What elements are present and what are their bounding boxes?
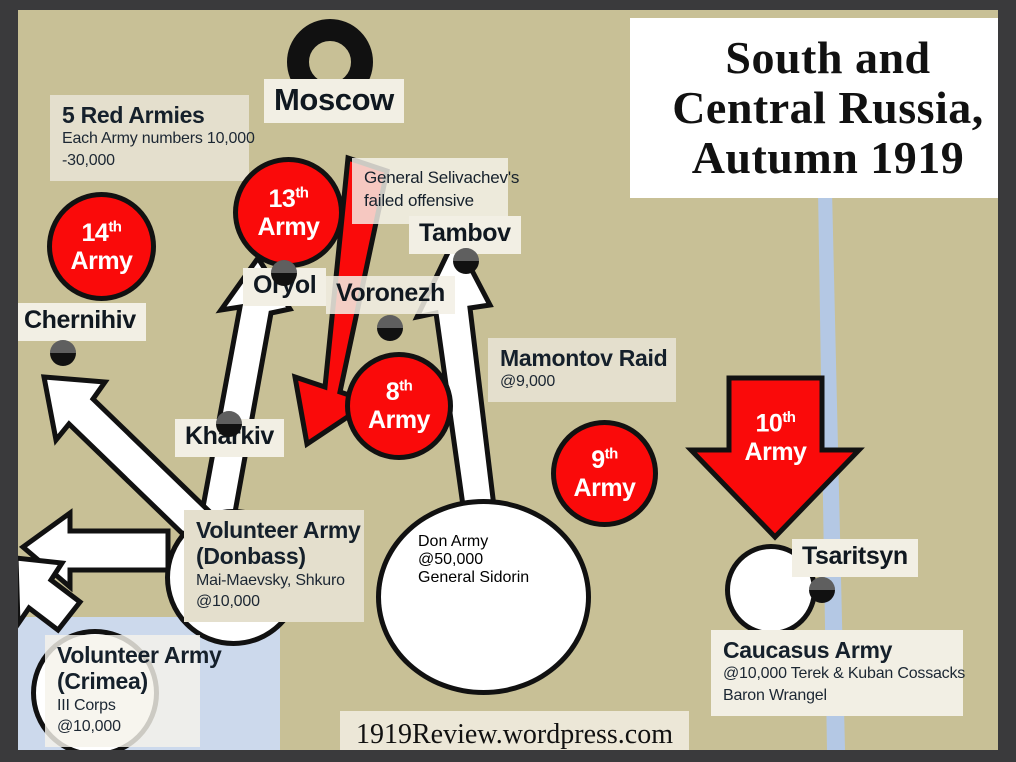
red-army-13th-word: Army [258, 213, 320, 241]
red-army-9th-ordinal: 9th [591, 446, 618, 474]
city-dot-kharkiv [216, 411, 242, 437]
city-dot-oryol [271, 260, 297, 286]
selivachev-annotation-box: General Selivachev's failed offensive [352, 158, 508, 224]
volunteer-crimea-title-1: Volunteer Army [57, 642, 188, 668]
volunteer-crimea-box: Volunteer Army (Crimea) III Corps @10,00… [45, 635, 200, 747]
white-army-don-circle[interactable] [376, 499, 591, 695]
legend-line-2: -30,000 [62, 150, 237, 172]
city-dot-tsaritsyn [809, 577, 835, 603]
selivachev-line-1: General Selivachev's [364, 167, 496, 190]
city-dot-tambov [453, 248, 479, 274]
don-army-line-2: General Sidorin [418, 569, 608, 587]
legend-line-1: Each Army numbers 10,000 [62, 128, 237, 150]
volunteer-crimea-line-2: @10,000 [57, 716, 188, 738]
red-army-8th-ordinal: 8th [386, 378, 413, 406]
legend-title: 5 Red Armies [62, 102, 237, 128]
mamontov-annotation-box: Mamontov Raid @9,000 [488, 338, 676, 402]
city-label-tsaritsyn: Tsaritsyn [792, 539, 918, 577]
westward-white-arrow [23, 513, 168, 587]
map-title-card: South and Central Russia, Autumn 1919 [630, 18, 998, 198]
volunteer-donbass-title-2: (Donbass) [196, 543, 352, 569]
caucasus-army-title: Caucasus Army [723, 637, 951, 663]
tenth-army-label: 10th Army [718, 409, 833, 467]
volunteer-donbass-line-1: Mai-Maevsky, Shkuro [196, 570, 352, 592]
red-army-13th[interactable]: 13th Army [233, 157, 344, 268]
land-area: 10th Army 5 Red Armies Each Army numbers… [18, 10, 998, 750]
don-army-text: Don Army @50,000 General Sidorin [418, 533, 608, 587]
mamontov-title: Mamontov Raid [500, 345, 664, 371]
red-army-14th-word: Army [71, 247, 133, 275]
volunteer-donbass-line-2: @10,000 [196, 591, 352, 613]
mamontov-line-1: @9,000 [500, 371, 664, 393]
don-army-title: Don Army [418, 533, 608, 551]
red-army-9th-word: Army [574, 474, 636, 502]
volunteer-donbass-title-1: Volunteer Army [196, 517, 352, 543]
volunteer-crimea-line-1: III Corps [57, 695, 188, 717]
title-line-3: Autumn 1919 [692, 133, 965, 183]
title-line-1: South and [725, 33, 930, 83]
caucasus-army-box: Caucasus Army @10,000 Terek & Kuban Coss… [711, 630, 963, 716]
city-label-moscow: Moscow [264, 79, 404, 123]
watermark: 1919Review.wordpress.com [340, 711, 689, 750]
title-line-2: Central Russia, [672, 83, 984, 133]
don-army-line-1: @50,000 [418, 551, 608, 569]
red-army-8th[interactable]: 8th Army [345, 352, 453, 460]
city-dot-voronezh [377, 315, 403, 341]
tenth-army-ordinal: 10th [718, 409, 833, 438]
map-canvas: 10th Army 5 Red Armies Each Army numbers… [0, 0, 1016, 762]
volunteer-crimea-title-2: (Crimea) [57, 668, 188, 694]
legend-box: 5 Red Armies Each Army numbers 10,000 -3… [50, 95, 249, 181]
city-label-voronezh: Voronezh [326, 276, 455, 314]
selivachev-line-2: failed offensive [364, 190, 496, 213]
volunteer-donbass-box: Volunteer Army (Donbass) Mai-Maevsky, Sh… [184, 510, 364, 622]
red-army-13th-ordinal: 13th [269, 185, 309, 213]
red-army-9th[interactable]: 9th Army [551, 420, 658, 527]
city-dot-chernihiv [50, 340, 76, 366]
red-army-14th[interactable]: 14th Army [47, 192, 156, 301]
caucasus-army-line-1: @10,000 Terek & Kuban Cossacks [723, 663, 951, 685]
tenth-army-word: Army [718, 438, 833, 467]
red-army-14th-ordinal: 14th [82, 219, 122, 247]
red-army-8th-word: Army [368, 406, 430, 434]
caucasus-army-line-2: Baron Wrangel [723, 685, 951, 707]
city-label-chernihiv: Chernihiv [18, 303, 146, 341]
